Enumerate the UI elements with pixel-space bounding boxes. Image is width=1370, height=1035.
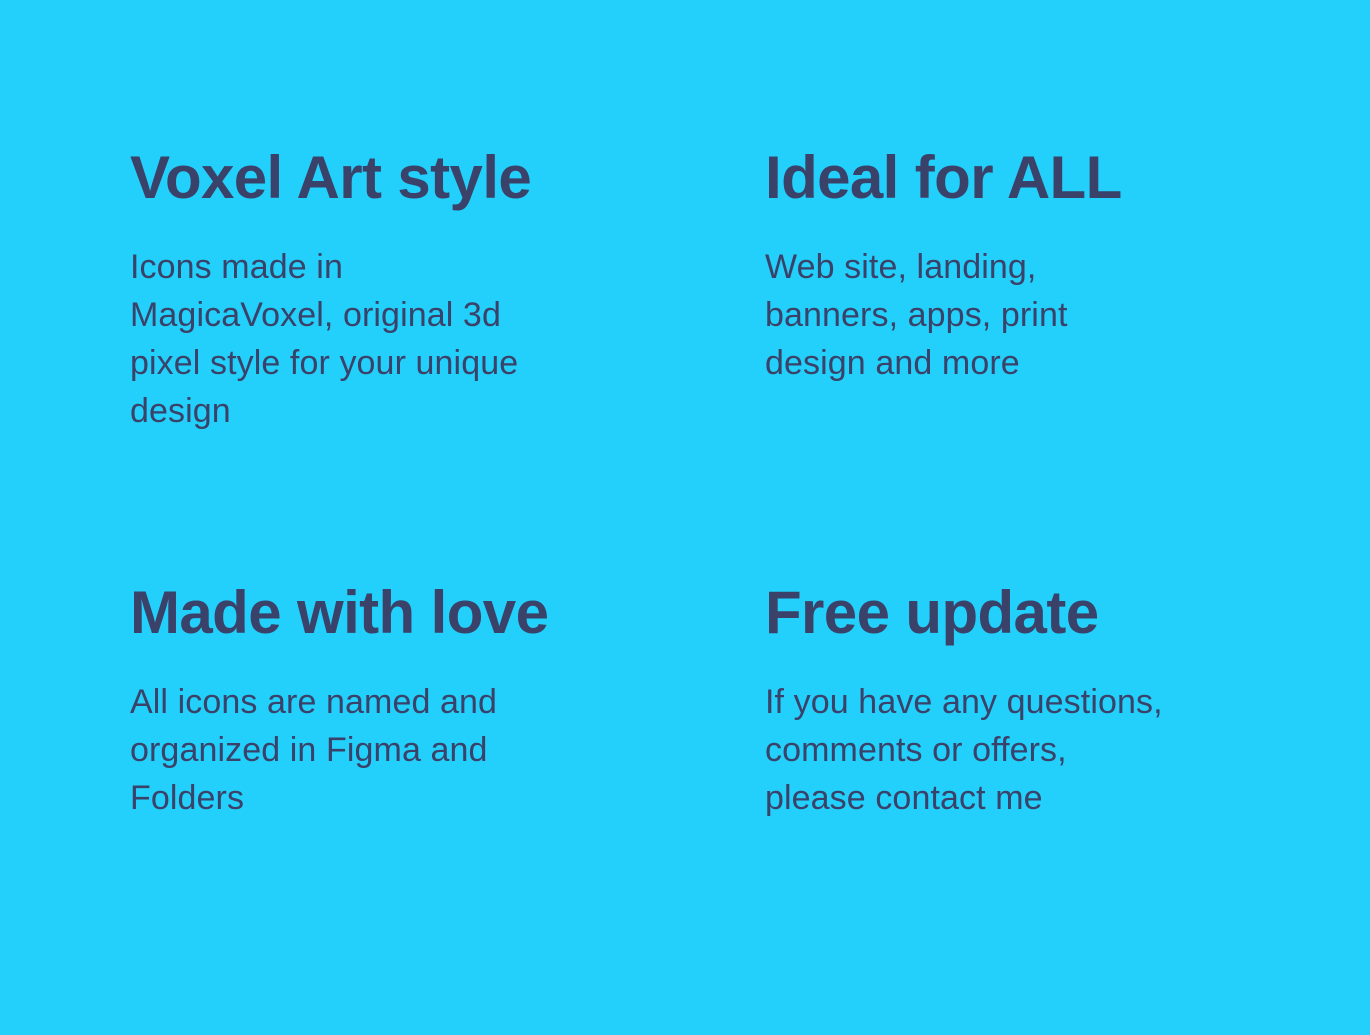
feature-title: Free update	[765, 583, 1370, 643]
feature-block-ideal-for-all: Ideal for ALL Web site, landing, banners…	[765, 148, 1370, 435]
feature-description: Icons made in MagicaVoxel, original 3d p…	[130, 208, 650, 435]
feature-title: Voxel Art style	[130, 148, 765, 208]
feature-description: Web site, landing, banners, apps, print …	[765, 208, 1285, 387]
feature-title: Made with love	[130, 583, 765, 643]
feature-block-made-with-love: Made with love All icons are named and o…	[130, 583, 765, 822]
feature-grid: Voxel Art style Icons made in MagicaVoxe…	[0, 0, 1370, 1035]
feature-description: If you have any questions, comments or o…	[765, 643, 1285, 822]
feature-block-voxel-art-style: Voxel Art style Icons made in MagicaVoxe…	[130, 148, 765, 435]
feature-title: Ideal for ALL	[765, 148, 1370, 208]
feature-block-free-update: Free update If you have any questions, c…	[765, 583, 1370, 822]
feature-description: All icons are named and organized in Fig…	[130, 643, 650, 822]
